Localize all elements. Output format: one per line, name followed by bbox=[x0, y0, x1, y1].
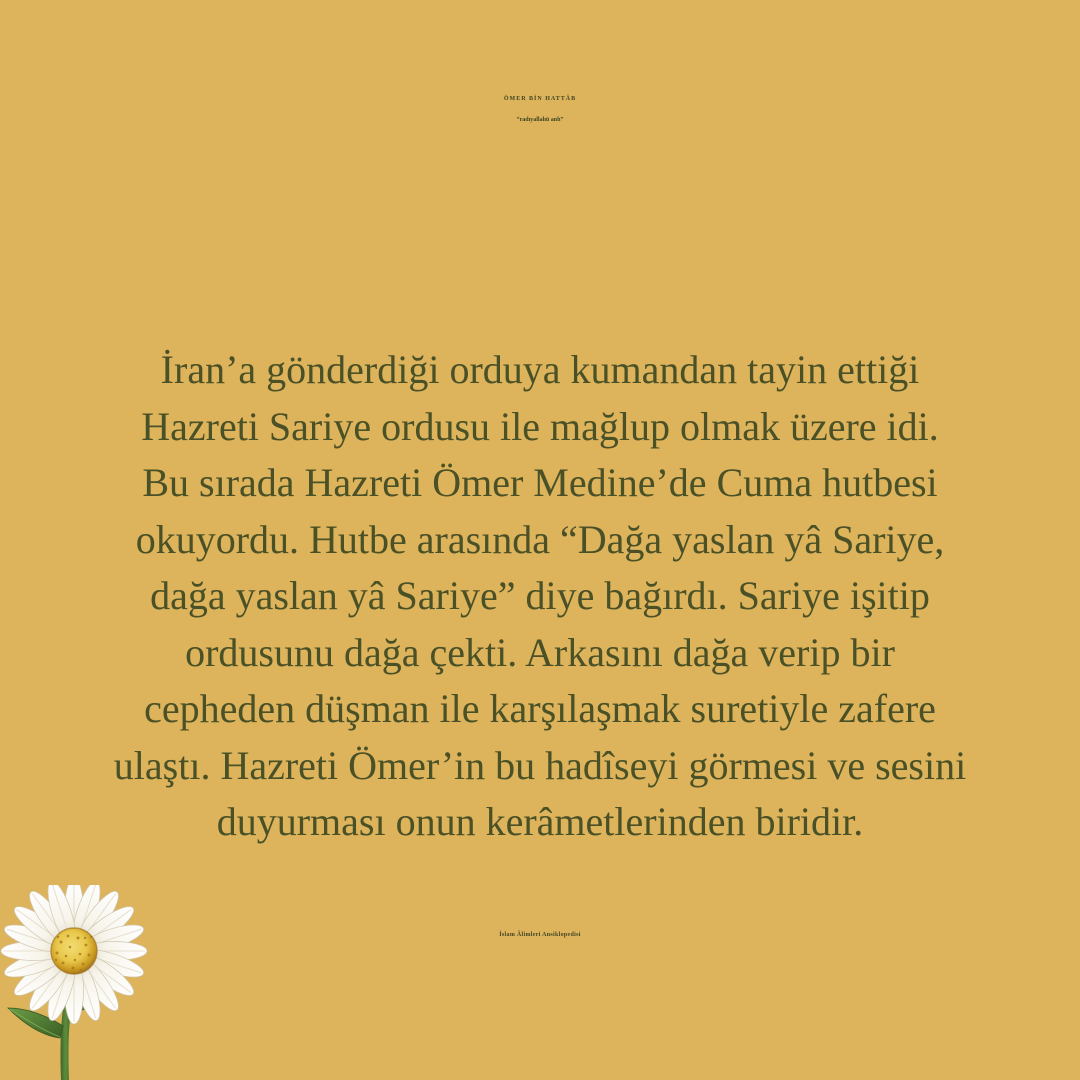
page-title: ÖMER BİN HATTÂB bbox=[0, 96, 1080, 103]
body-paragraph: İran’a gönderdiği orduya kumandan tayin … bbox=[40, 342, 1040, 851]
page-subtitle: “radıyallahü anh” bbox=[0, 117, 1080, 124]
body-line: dağa yaslan yâ Sariye” diye bağırdı. Sar… bbox=[40, 568, 1040, 625]
body-line: Hazreti Sariye ordusu ile mağlup olmak ü… bbox=[40, 399, 1040, 456]
flower-leaf-upper bbox=[40, 987, 64, 1009]
source-attribution: İslam Âlimleri Ansiklopedisi bbox=[0, 932, 1080, 938]
body-line: okuyordu. Hutbe arasında “Dağa yaslan yâ… bbox=[40, 512, 1040, 569]
flower-head bbox=[1, 885, 147, 1024]
body-line: ulaştı. Hazreti Ömer’in bu hadîseyi görm… bbox=[40, 738, 1040, 795]
body-line: İran’a gönderdiği orduya kumandan tayin … bbox=[40, 342, 1040, 399]
flower-leaf-left bbox=[8, 1008, 63, 1038]
body-line: Bu sırada Hazreti Ömer Medine’de Cuma hu… bbox=[40, 455, 1040, 512]
daisy-flower-icon bbox=[0, 885, 188, 1080]
flower-leaf-right bbox=[70, 996, 105, 1012]
body-line: duyurması onun kerâmetlerinden biridir. bbox=[40, 794, 1040, 851]
card-footer: İslam Âlimleri Ansiklopedisi bbox=[0, 932, 1080, 938]
flower-stem bbox=[60, 993, 73, 1080]
body-line: cepheden düşman ile karşılaşmak suretiyl… bbox=[40, 681, 1040, 738]
body-line: ordusunu dağa çekti. Arkasını dağa verip… bbox=[40, 625, 1040, 682]
card-header: ÖMER BİN HATTÂB “radıyallahü anh” bbox=[0, 96, 1080, 124]
quote-card: ÖMER BİN HATTÂB “radıyallahü anh” İran’a… bbox=[0, 0, 1080, 1080]
